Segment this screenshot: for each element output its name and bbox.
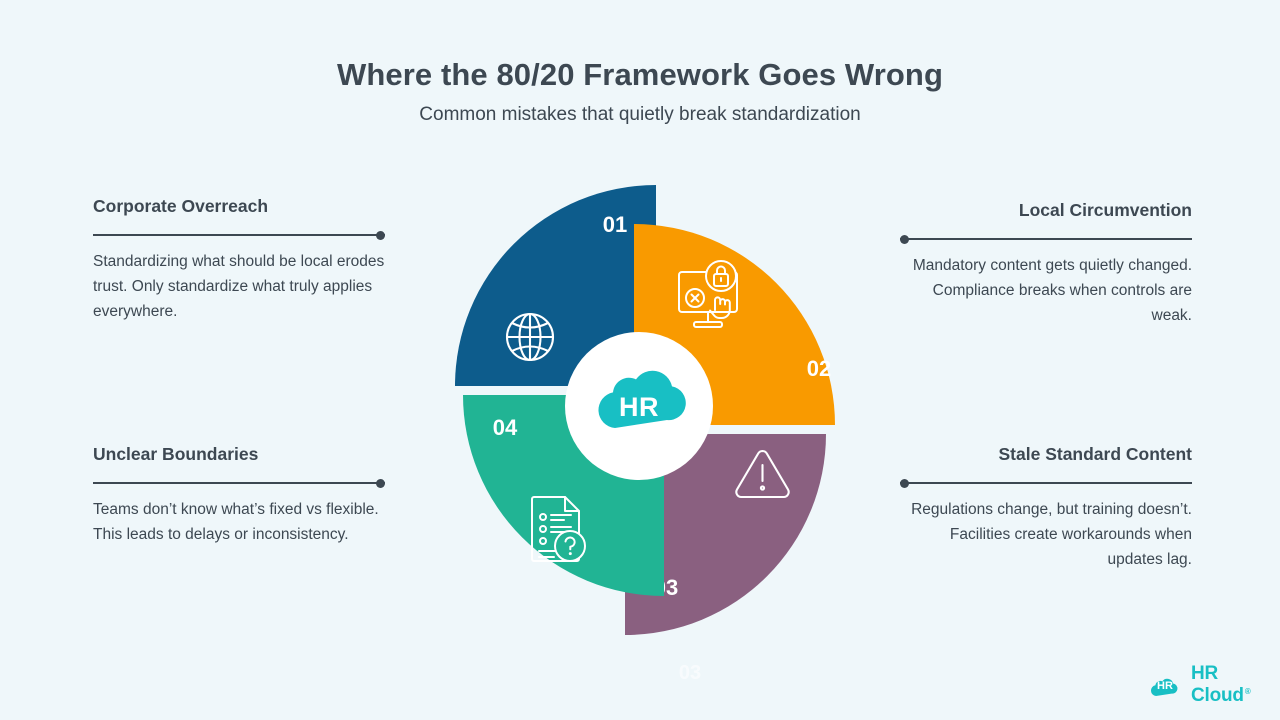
rule-dot: [900, 479, 909, 488]
callout-rule: [900, 235, 1192, 244]
logo-mark-text: HR: [1146, 672, 1184, 699]
callout-title: Local Circumvention: [900, 200, 1192, 222]
callout-title: Stale Standard Content: [900, 444, 1192, 466]
wheel-segment-01-number: 01: [603, 212, 627, 237]
rule-line: [93, 482, 385, 484]
callout-body: Teams don’t know what’s fixed vs flexibl…: [93, 497, 385, 547]
hr-cloud-logo[interactable]: HR HR Cloud®: [1146, 663, 1280, 707]
logo-wordmark-text: HR Cloud: [1191, 663, 1244, 706]
watermark-number: 03: [645, 662, 735, 685]
callout-unclear-boundaries: Unclear Boundaries Teams don’t know what…: [93, 444, 385, 547]
hub-label: HR: [565, 332, 713, 480]
callout-title: Corporate Overreach: [93, 196, 385, 218]
rule-dot: [376, 231, 385, 240]
callout-local-circumvention: Local Circumvention Mandatory content ge…: [900, 200, 1192, 328]
page-title: Where the 80/20 Framework Goes Wrong: [0, 56, 1280, 93]
callout-stale-standard-content: Stale Standard Content Regulations chang…: [900, 444, 1192, 572]
wheel-hub: HR: [565, 332, 713, 480]
callout-body: Regulations change, but training doesn’t…: [900, 497, 1192, 572]
rule-dot: [376, 479, 385, 488]
wheel-segment-04-number: 04: [493, 415, 518, 440]
rule-dot: [900, 235, 909, 244]
page-subtitle: Common mistakes that quietly break stand…: [0, 104, 1280, 127]
callout-body: Mandatory content gets quietly changed. …: [900, 253, 1192, 328]
wheel-segment-02-number: 02: [807, 356, 831, 381]
logo-registered-mark: ®: [1245, 687, 1251, 696]
callout-rule: [900, 479, 1192, 488]
hr-cloud-cloud-icon: HR: [1146, 672, 1184, 699]
callout-body: Standardizing what should be local erode…: [93, 249, 385, 324]
callout-rule: [93, 231, 385, 240]
header: Where the 80/20 Framework Goes Wrong Com…: [0, 56, 1280, 127]
rule-line: [900, 238, 1192, 240]
rule-line: [900, 482, 1192, 484]
globe-icon: [507, 314, 553, 360]
callout-corporate-overreach: Corporate Overreach Standardizing what s…: [93, 196, 385, 324]
logo-wordmark: HR Cloud®: [1191, 663, 1280, 707]
rule-line: [93, 234, 385, 236]
callout-title: Unclear Boundaries: [93, 444, 385, 466]
callout-rule: [93, 479, 385, 488]
